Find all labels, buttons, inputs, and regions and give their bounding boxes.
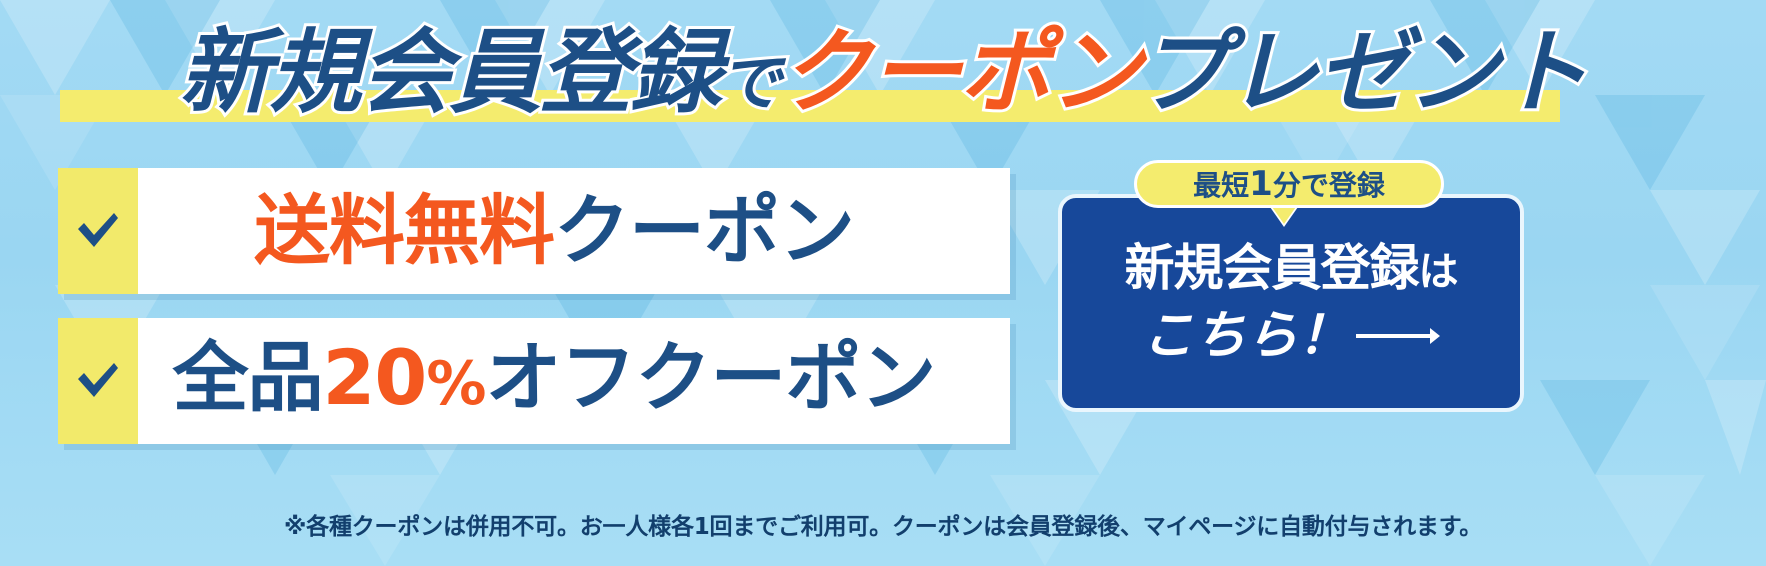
check-icon	[76, 211, 120, 251]
cta-line-1-main: 新規会員登録	[1125, 239, 1419, 297]
headline-part3: クーポン	[779, 19, 1136, 126]
cta-bubble-prefix: 最短	[1193, 169, 1249, 202]
register-cta-button[interactable]: 新規会員登録は こちら！	[1058, 194, 1524, 412]
promo-banner: 新規会員登録でクーポンプレゼント 送料無料クーポン 全品20%オフクーポン 最短…	[0, 0, 1766, 566]
cta-bubble-number: 1	[1249, 164, 1273, 204]
cta-line-1: 新規会員登録は	[1125, 237, 1458, 303]
footer-disclaimer: ※各種クーポンは併用不可。お一人様各1回までご利用可。クーポンは会員登録後、マイ…	[0, 510, 1766, 544]
headline-part1: 新規会員登録	[179, 19, 719, 126]
benefit-2-suffix: オフクーポン	[485, 333, 935, 422]
benefit-1-highlight: 送料無料	[254, 186, 554, 275]
cta-bubble-label: 最短1分で登録	[1137, 163, 1441, 207]
headline-area: 新規会員登録でクーポンプレゼント	[0, 14, 1766, 136]
benefit-text-shipping: 送料無料クーポン	[138, 168, 1010, 294]
cta-area: 最短1分で登録 新規会員登録は こちら！	[1058, 160, 1524, 412]
headline-part2: で	[719, 46, 779, 119]
benefit-2-number: 20	[323, 333, 427, 422]
cta-speech-bubble: 最短1分で登録	[1134, 160, 1444, 208]
cta-line-1-tail: は	[1419, 249, 1458, 295]
cta-line-2-text: こちら！	[1142, 303, 1350, 369]
benefit-1-suffix: クーポン	[554, 186, 854, 275]
benefit-2-percent: %	[426, 349, 485, 419]
page-title: 新規会員登録でクーポンプレゼント	[0, 14, 1766, 142]
checkbox-block	[58, 168, 138, 294]
benefit-2-prefix: 全品	[173, 333, 323, 422]
long-right-arrow-icon	[1356, 326, 1440, 346]
cta-line-2: こちら！	[1142, 303, 1440, 369]
check-icon	[76, 361, 120, 401]
headline-part4: プレゼント	[1137, 19, 1587, 126]
cta-bubble-suffix: 分で登録	[1273, 169, 1385, 202]
checkbox-block	[58, 318, 138, 444]
benefit-card-shipping: 送料無料クーポン	[58, 168, 1010, 294]
benefit-card-discount: 全品20%オフクーポン	[58, 318, 1010, 444]
benefit-text-discount: 全品20%オフクーポン	[138, 315, 1010, 447]
